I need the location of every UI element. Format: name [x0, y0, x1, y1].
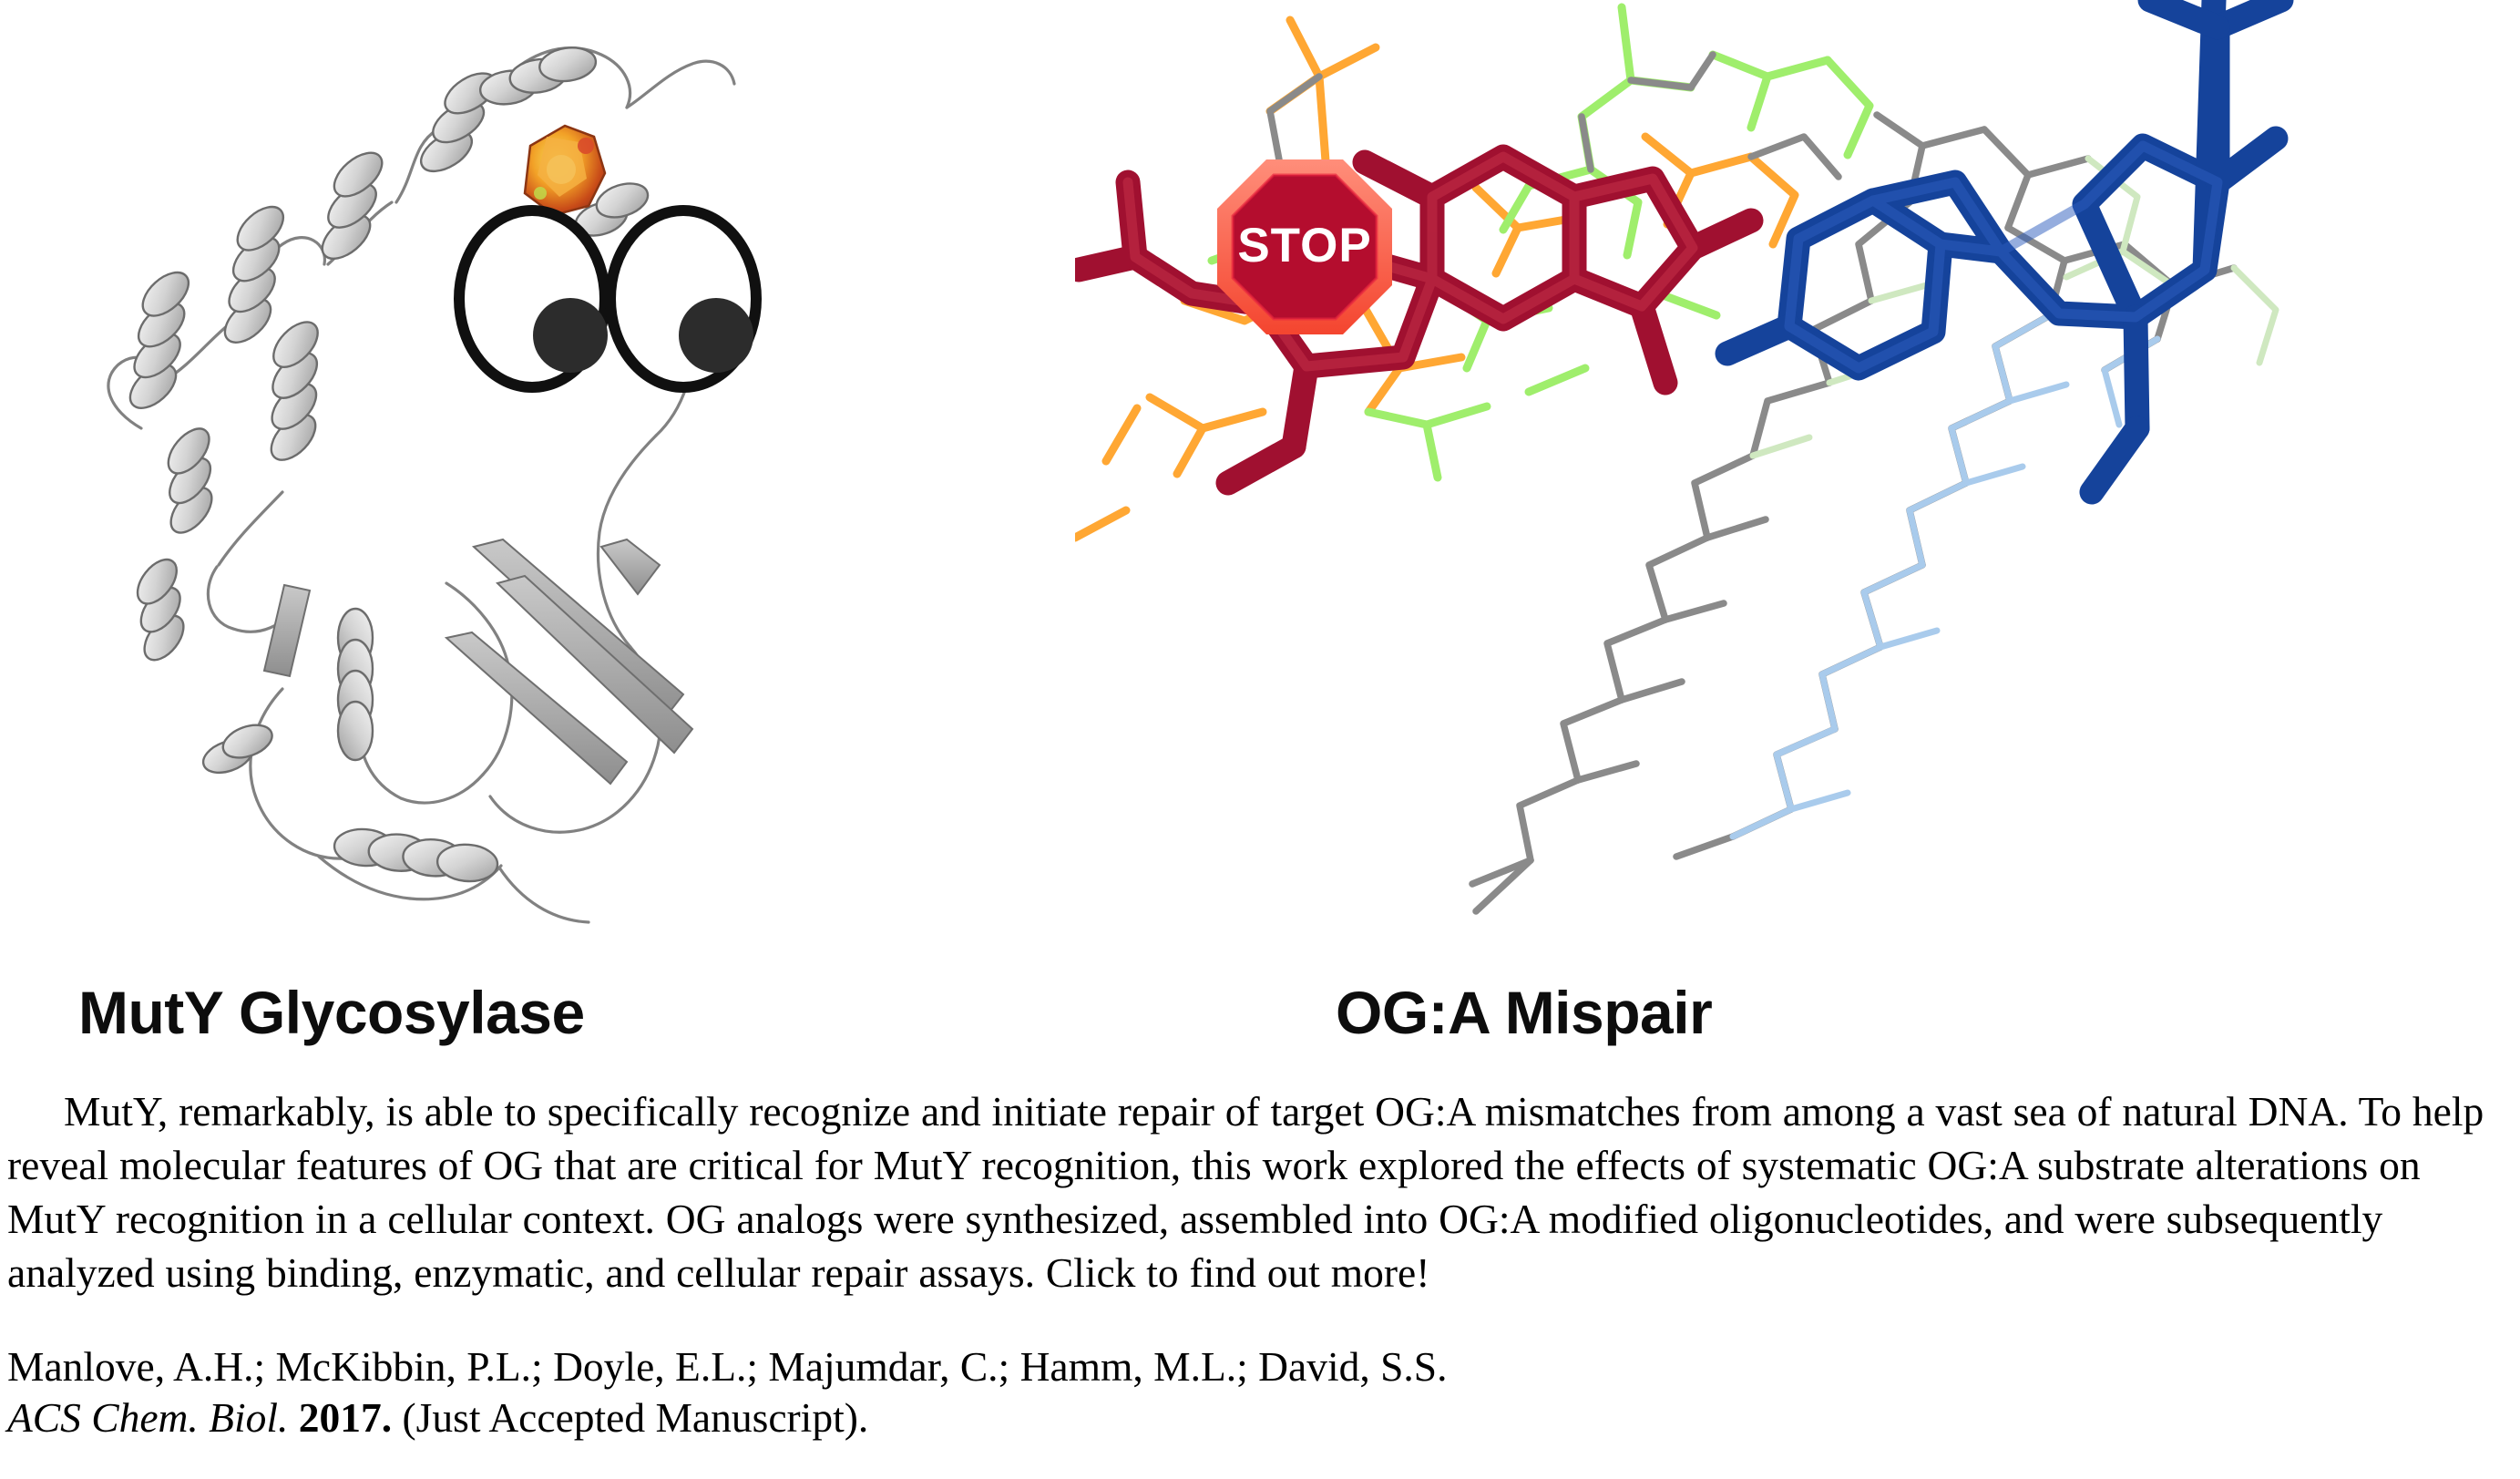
graphical-abstract-figure: STOP MutY Glycosylase OG:A Mispair — [0, 0, 2520, 1043]
abstract-text-block: MutY, remarkably, is able to specificall… — [7, 1084, 2511, 1443]
stop-sign-label: STOP — [1237, 219, 1371, 272]
citation-block: Manlove, A.H.; McKibbin, P.L.; Doyle, E.… — [7, 1341, 2511, 1443]
left-pupil-icon — [533, 298, 608, 373]
right-pupil-icon — [679, 298, 753, 373]
beta-sheets — [264, 539, 692, 784]
citation-authors: Manlove, A.H.; McKibbin, P.L.; Doyle, E.… — [7, 1341, 2511, 1392]
iron-sulfur-cluster — [525, 126, 605, 215]
abstract-paragraph: MutY, remarkably, is able to specificall… — [7, 1084, 2511, 1299]
panel-caption-muty-glycosylase: MutY Glycosylase — [78, 982, 585, 1042]
citation-note: (Just Accepted Manuscript). — [403, 1394, 869, 1441]
og-a-mispair-structure-diagram: STOP — [1075, 0, 2314, 1043]
citation-journal: ACS Chem. Biol. 2017. (Just Accepted Man… — [7, 1392, 2511, 1443]
citation-year: 2017. — [299, 1394, 392, 1441]
citation-journal-title: ACS Chem. Biol. — [7, 1394, 288, 1441]
panel-caption-og-a-mispair: OG:A Mispair — [1336, 982, 1712, 1042]
stop-sign-icon: STOP — [1217, 159, 1392, 334]
cartoon-eyes-overlay — [459, 211, 756, 387]
adenine-nucleotide-highlights — [1789, 146, 2218, 368]
og-a-mispair-panel[interactable]: STOP — [1075, 0, 2314, 1043]
muty-glycosylase-ribbon-diagram — [55, 0, 784, 1043]
protein-structure-panel[interactable] — [55, 0, 784, 1043]
